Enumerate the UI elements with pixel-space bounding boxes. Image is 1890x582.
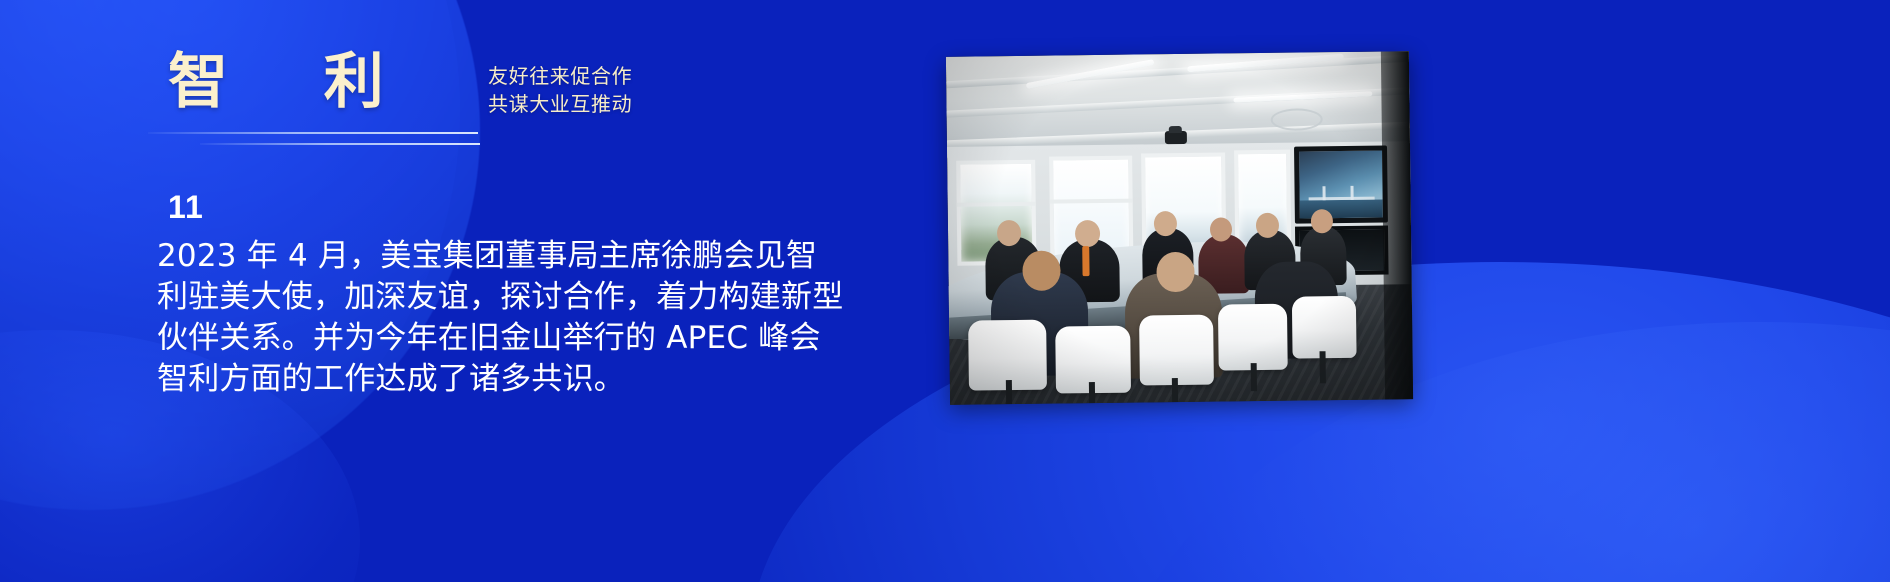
photo-person-far-5-head [1256,213,1279,238]
header-subtitle: 友好往来促合作 共谋大业互推动 [488,62,632,119]
title-rule-lower [200,143,480,145]
photo-chair-3 [1139,315,1214,385]
body-paragraph: 2023 年 4 月，美宝集团董事局主席徐鹏会见智利驻美大使，加深友谊，探讨合作… [157,236,847,400]
meeting-photo [946,51,1413,405]
photo-person-far-3-head [1154,211,1177,236]
slide-root: 智 利 友好往来促合作 共谋大业互推动 11 2023 年 4 月，美宝集团董事… [0,0,1890,582]
photo-person-near-1-head [1022,250,1060,290]
photo-conference-camera [1164,130,1186,143]
photo-ceiling-vent [1271,108,1323,131]
photo-screen-tower-2 [1351,185,1354,200]
photo-chair-3-stem [1172,378,1178,402]
photo-chair-2-stem [1089,382,1095,403]
photo-display-screen [1294,145,1388,223]
photo-content [946,51,1413,405]
photo-chair-4 [1217,303,1287,370]
photo-person-far-2-tie [1082,246,1089,276]
photo-chair-5-stem [1320,351,1326,382]
title-rule-upper [148,132,478,134]
subtitle-line-1: 友好往来促合作 [488,62,632,90]
photo-person-far-1-head [996,219,1020,245]
photo-screen-tower-1 [1323,186,1326,201]
subtitle-line-2: 共谋大业互推动 [488,90,632,118]
photo-chair-1-stem [1005,380,1011,404]
title-underline-rules [148,132,508,154]
photo-chair-4-stem [1251,363,1257,391]
body-text: 2023 年 4 月，美宝集团董事局主席徐鹏会见智利驻美大使，加深友谊，探讨合作… [157,236,847,400]
photo-right-dark-edge [1381,51,1413,399]
photo-person-far-4-head [1209,217,1231,241]
item-number: 11 [168,189,204,226]
photo-chair-5 [1291,295,1357,358]
